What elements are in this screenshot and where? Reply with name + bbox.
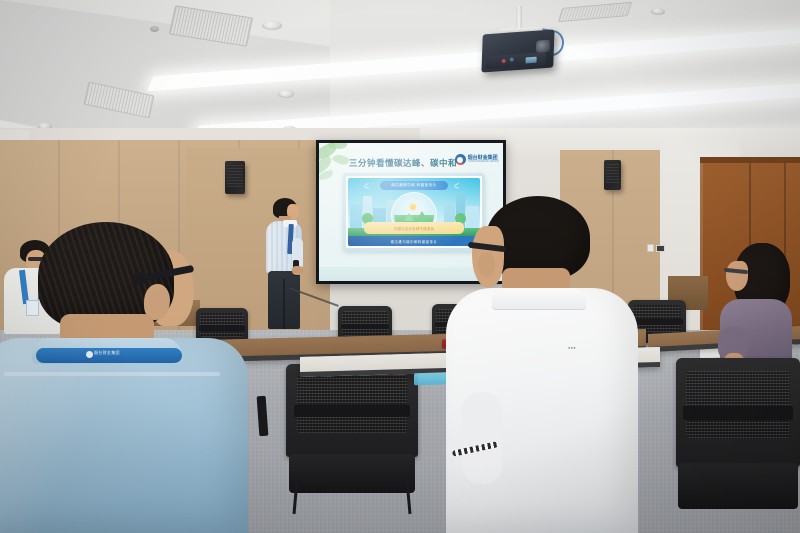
wall-speaker-right (604, 160, 621, 190)
polo-back-logo: ●●● (568, 336, 592, 347)
conference-chair[interactable] (676, 358, 800, 533)
attendee-foreground-left: 烟台财金集团 (0, 222, 244, 533)
arm (462, 392, 502, 484)
brand-logo-en: YANTAI FINANCE GROUP (468, 161, 499, 164)
monitor-highlight-card: 中国与应对全球气候变化 (364, 222, 464, 234)
attendee-center-white-polo: ●●● (456, 196, 626, 533)
wall-socket[interactable] (656, 245, 665, 252)
monitor-card-text: 中国与应对全球气候变化 (394, 226, 435, 231)
shirt-yoke-seam (4, 372, 220, 376)
smoke-detector-icon (278, 90, 294, 98)
polo-collar (492, 288, 586, 310)
sun-icon (410, 204, 416, 210)
badge-logo-icon (86, 351, 93, 358)
slide-title: 三分钟看懂碳达峰、碳中和 (349, 157, 457, 169)
ceiling-projector (481, 29, 554, 72)
smoke-detector-icon (651, 8, 665, 15)
conference-chair[interactable] (286, 364, 418, 514)
wall-switch[interactable] (647, 244, 654, 252)
projector-lens-icon (536, 40, 550, 53)
brand-logo-mark-icon (455, 154, 466, 165)
hand (292, 266, 303, 275)
wall-speaker-left (225, 161, 245, 194)
smoke-detector-icon (262, 21, 282, 30)
conference-room-photo: 三分钟看懂碳达峰、碳中和 烟台财金集团 YANTAI FINANCE GROUP… (0, 0, 800, 533)
projector-front-panel (486, 52, 546, 69)
attendee-right (718, 243, 794, 355)
ear (478, 252, 495, 277)
badge-text: 烟台财金集团 (94, 350, 120, 356)
projector-indicator-panel (526, 57, 537, 64)
trousers (268, 271, 300, 329)
blue-shirt (0, 338, 248, 533)
smoke-detector-icon (150, 26, 159, 32)
monitor-caption-text: 碳达峰与碳中和科普宣传片 (391, 239, 438, 244)
presenter (262, 198, 308, 330)
face (726, 261, 748, 291)
brand-logo: 烟台财金集团 YANTAI FINANCE GROUP (455, 154, 499, 165)
